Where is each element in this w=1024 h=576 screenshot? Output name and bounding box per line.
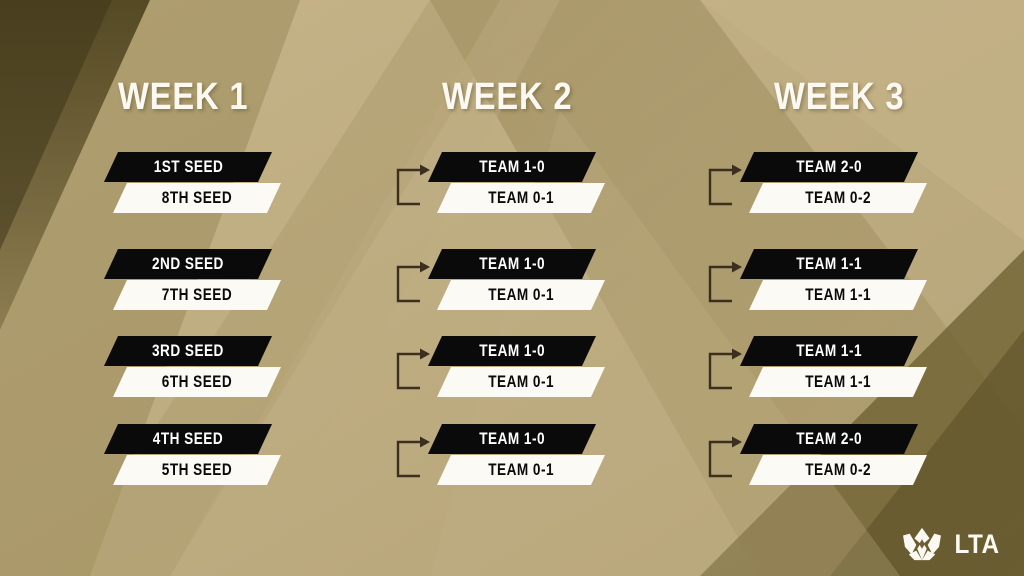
match-slot-bottom-label: 8TH SEED [162, 188, 232, 208]
connector-week-3-match-3 [704, 344, 746, 396]
match-slot-top[interactable]: TEAM 1-1 [740, 336, 918, 366]
match-slot-bottom[interactable]: 6TH SEED [113, 367, 281, 397]
match-slot-top-label: TEAM 1-0 [479, 254, 545, 274]
match-slot-bottom-label: TEAM 0-1 [488, 188, 554, 208]
match-slot-top-label: TEAM 1-1 [796, 341, 862, 361]
match-slot-bottom-label: TEAM 0-2 [805, 188, 871, 208]
match-slot-top-label: 1ST SEED [153, 157, 223, 177]
bracket-board: 1ST SEED8TH SEED2ND SEED7TH SEED3RD SEED… [0, 0, 1024, 576]
match-slot-bottom-label: TEAM 1-1 [805, 372, 871, 392]
match-card[interactable]: TEAM 1-0TEAM 0-1 [428, 152, 596, 214]
match-slot-bottom[interactable]: TEAM 1-1 [749, 280, 927, 310]
lta-logo: LTA [901, 526, 1002, 562]
match-slot-bottom[interactable]: TEAM 0-1 [437, 183, 605, 213]
match-slot-top[interactable]: TEAM 1-0 [428, 336, 596, 366]
connector-week-2-match-3 [392, 344, 434, 396]
connector-week-2-match-2 [392, 257, 434, 309]
match-card[interactable]: TEAM 1-1TEAM 1-1 [740, 249, 918, 311]
match-slot-top-label: TEAM 1-0 [479, 429, 545, 449]
lta-crest-icon [901, 526, 943, 562]
match-card[interactable]: 3RD SEED6TH SEED [104, 336, 272, 398]
match-slot-top-label: TEAM 1-1 [796, 254, 862, 274]
connector-week-3-match-4 [704, 432, 746, 484]
match-slot-bottom[interactable]: TEAM 1-1 [749, 367, 927, 397]
match-slot-top[interactable]: TEAM 1-0 [428, 152, 596, 182]
match-slot-top-label: TEAM 2-0 [796, 429, 862, 449]
match-card[interactable]: TEAM 2-0TEAM 0-2 [740, 152, 918, 214]
match-card[interactable]: TEAM 1-0TEAM 0-1 [428, 424, 596, 486]
match-slot-top-label: TEAM 1-0 [479, 341, 545, 361]
match-slot-top[interactable]: 4TH SEED [104, 424, 272, 454]
match-slot-bottom[interactable]: 7TH SEED [113, 280, 281, 310]
match-slot-top-label: 4TH SEED [153, 429, 223, 449]
match-card[interactable]: TEAM 2-0TEAM 0-2 [740, 424, 918, 486]
match-slot-bottom[interactable]: TEAM 0-1 [437, 367, 605, 397]
match-slot-top[interactable]: TEAM 2-0 [740, 152, 918, 182]
match-card[interactable]: 4TH SEED5TH SEED [104, 424, 272, 486]
match-card[interactable]: TEAM 1-0TEAM 0-1 [428, 249, 596, 311]
match-slot-top-label: 2ND SEED [152, 254, 224, 274]
match-slot-bottom-label: TEAM 0-1 [488, 372, 554, 392]
match-slot-bottom-label: TEAM 0-1 [488, 460, 554, 480]
match-slot-top[interactable]: TEAM 1-0 [428, 424, 596, 454]
match-card[interactable]: 2ND SEED7TH SEED [104, 249, 272, 311]
match-slot-top-label: TEAM 1-0 [479, 157, 545, 177]
match-slot-bottom[interactable]: 8TH SEED [113, 183, 281, 213]
match-card[interactable]: 1ST SEED8TH SEED [104, 152, 272, 214]
match-card[interactable]: TEAM 1-1TEAM 1-1 [740, 336, 918, 398]
match-slot-bottom-label: 6TH SEED [162, 372, 232, 392]
lta-logo-text: LTA [955, 529, 1000, 560]
match-slot-bottom[interactable]: 5TH SEED [113, 455, 281, 485]
match-slot-bottom-label: TEAM 0-2 [805, 460, 871, 480]
match-slot-top[interactable]: TEAM 1-1 [740, 249, 918, 279]
connector-week-3-match-2 [704, 257, 746, 309]
match-slot-top[interactable]: 1ST SEED [104, 152, 272, 182]
match-card[interactable]: TEAM 1-0TEAM 0-1 [428, 336, 596, 398]
match-slot-top-label: TEAM 2-0 [796, 157, 862, 177]
connector-week-3-match-1 [704, 160, 746, 212]
match-slot-top-label: 3RD SEED [152, 341, 224, 361]
match-slot-bottom[interactable]: TEAM 0-1 [437, 455, 605, 485]
match-slot-bottom[interactable]: TEAM 0-1 [437, 280, 605, 310]
connector-week-2-match-4 [392, 432, 434, 484]
connector-week-2-match-1 [392, 160, 434, 212]
match-slot-bottom[interactable]: TEAM 0-2 [749, 183, 927, 213]
match-slot-bottom-label: 5TH SEED [162, 460, 232, 480]
match-slot-bottom-label: TEAM 1-1 [805, 285, 871, 305]
match-slot-top[interactable]: TEAM 2-0 [740, 424, 918, 454]
match-slot-bottom[interactable]: TEAM 0-2 [749, 455, 927, 485]
match-slot-top[interactable]: 3RD SEED [104, 336, 272, 366]
match-slot-bottom-label: TEAM 0-1 [488, 285, 554, 305]
match-slot-top[interactable]: 2ND SEED [104, 249, 272, 279]
match-slot-top[interactable]: TEAM 1-0 [428, 249, 596, 279]
match-slot-bottom-label: 7TH SEED [162, 285, 232, 305]
